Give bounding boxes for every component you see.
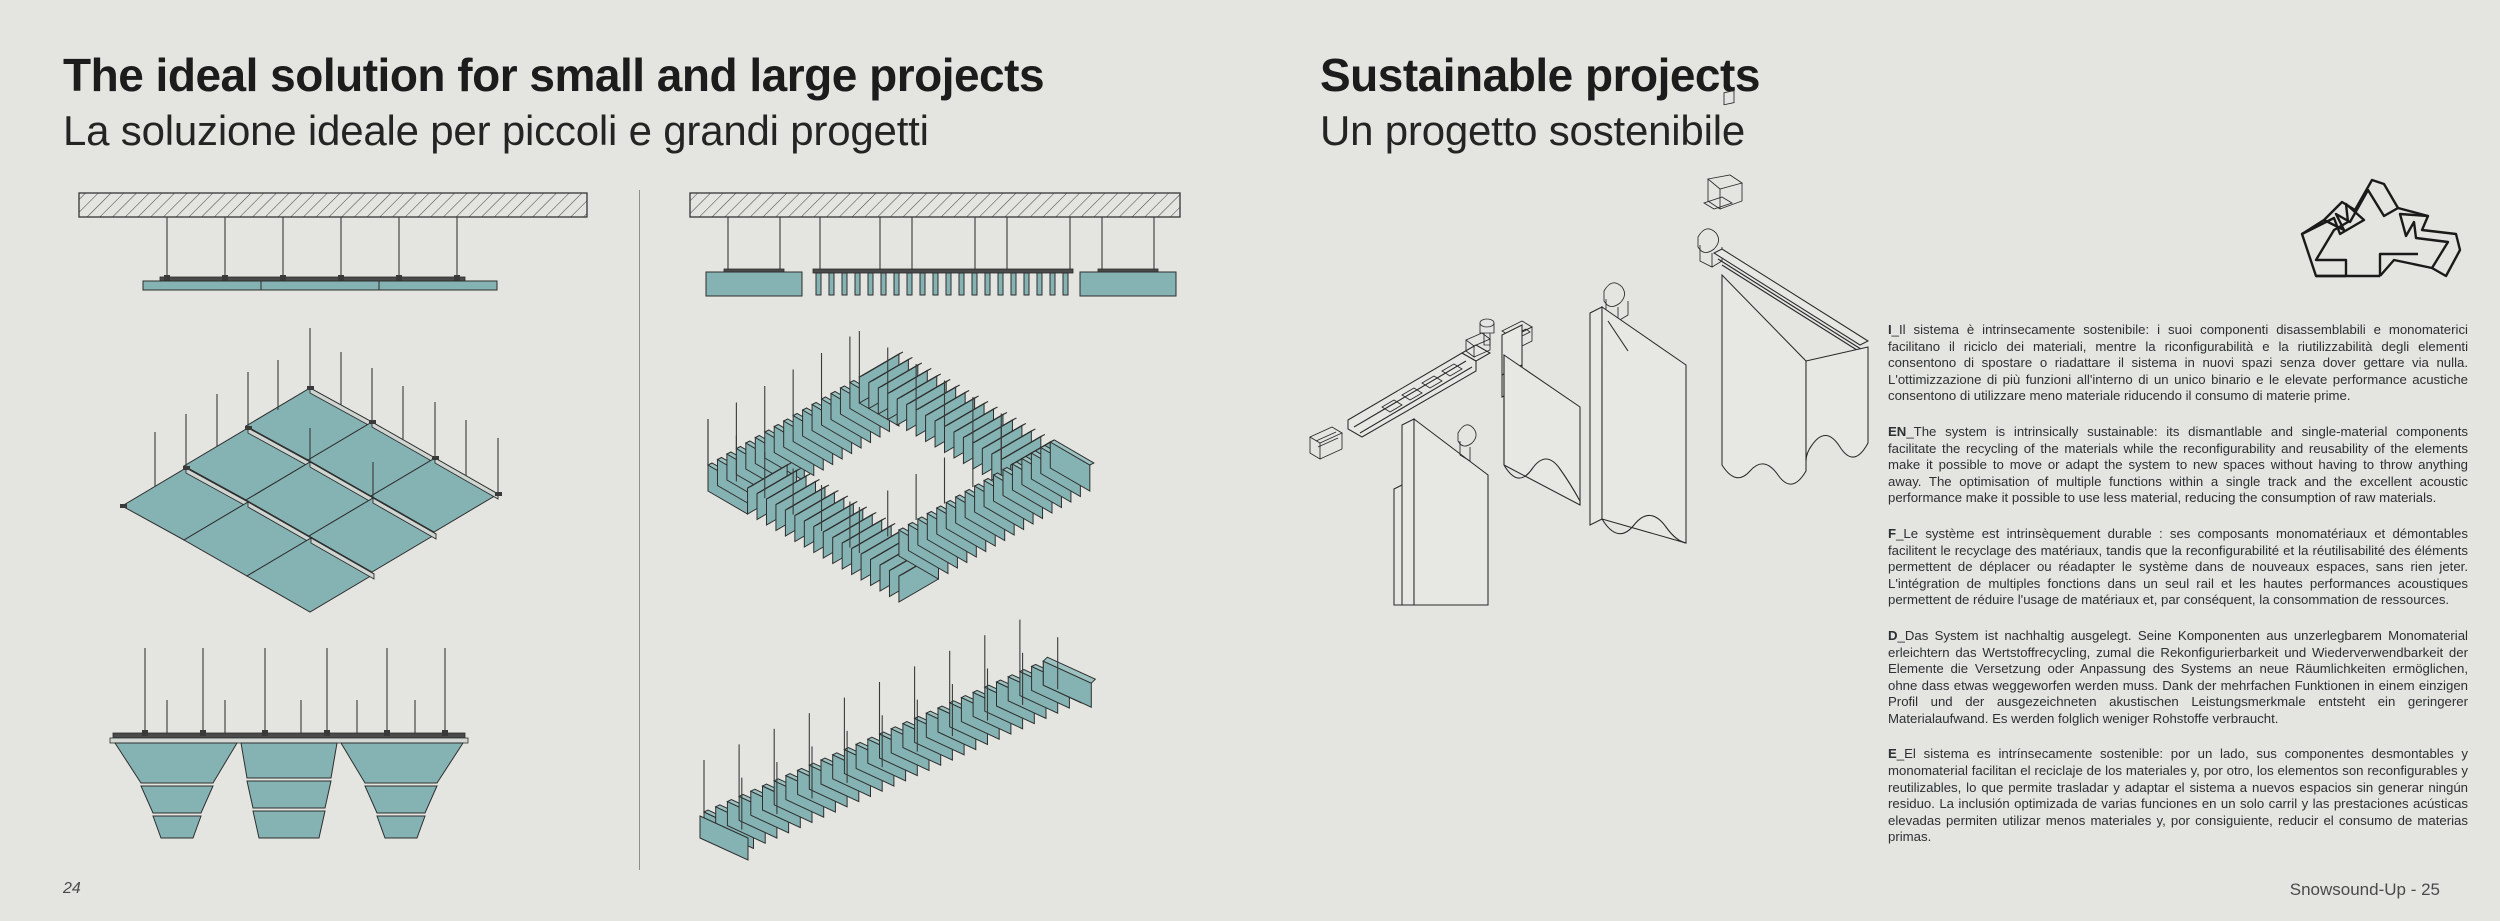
page-number-left: 24	[63, 880, 81, 898]
sustainability-text-column: I_Il sistema è intrinsecamente sostenibi…	[1888, 322, 2468, 865]
paragraph-text-de: _Das System ist nachhaltig ausgelegt. Se…	[1888, 628, 2468, 726]
paragraph-text-fr: _Le système est intrinsèquement durable …	[1888, 526, 2468, 607]
paragraph-es: E_El sistema es intrínsecamente sostenib…	[1888, 746, 2468, 846]
lang-label-en: EN	[1888, 424, 1906, 439]
figure-front-view-trapezoid-panel-array	[105, 648, 505, 863]
right-page-title-it: Un progetto sostenibile	[1320, 107, 1745, 155]
paragraph-de: D_Das System ist nachhaltig ausgelegt. S…	[1888, 628, 2468, 728]
figure-exploded-assembly-track-clips-panels	[1290, 175, 1890, 605]
paragraph-it: I_Il sistema è intrinsecamente sostenibi…	[1888, 322, 2468, 405]
recycle-icon	[2280, 168, 2465, 293]
lang-label-fr: F	[1888, 526, 1896, 541]
left-page-title-it: La soluzione ideale per piccoli e grandi…	[63, 107, 929, 155]
figure-ceiling-section-baffles	[680, 185, 1200, 303]
paragraph-text-it: _Il sistema è intrinsecamente sostenibil…	[1888, 322, 2468, 403]
paragraph-fr: F_Le système est intrinsèquement durable…	[1888, 526, 2468, 609]
footer-right: Snowsound-Up - 25	[2290, 880, 2440, 900]
figure-isometric-staggered-flat-panels	[110, 320, 580, 610]
paragraph-en: EN_The system is intrinsically sustainab…	[1888, 424, 2468, 507]
lang-label-de: D	[1888, 628, 1898, 643]
catalogue-spread: The ideal solution for small and large p…	[0, 0, 2500, 921]
figure-isometric-baffle-ring	[690, 315, 1190, 615]
figure-isometric-baffle-run	[690, 700, 1200, 880]
paragraph-text-es: _El sistema es intrínsecamente sostenibl…	[1888, 746, 2468, 844]
left-page-title-en: The ideal solution for small and large p…	[63, 48, 1044, 102]
figure-ceiling-section-flat-panels	[55, 185, 625, 300]
right-page-title-en: Sustainable projects	[1320, 48, 1760, 102]
lang-label-es: E	[1888, 746, 1897, 761]
paragraph-text-en: _The system is intrinsically sustainable…	[1888, 424, 2468, 505]
column-divider	[639, 190, 640, 870]
